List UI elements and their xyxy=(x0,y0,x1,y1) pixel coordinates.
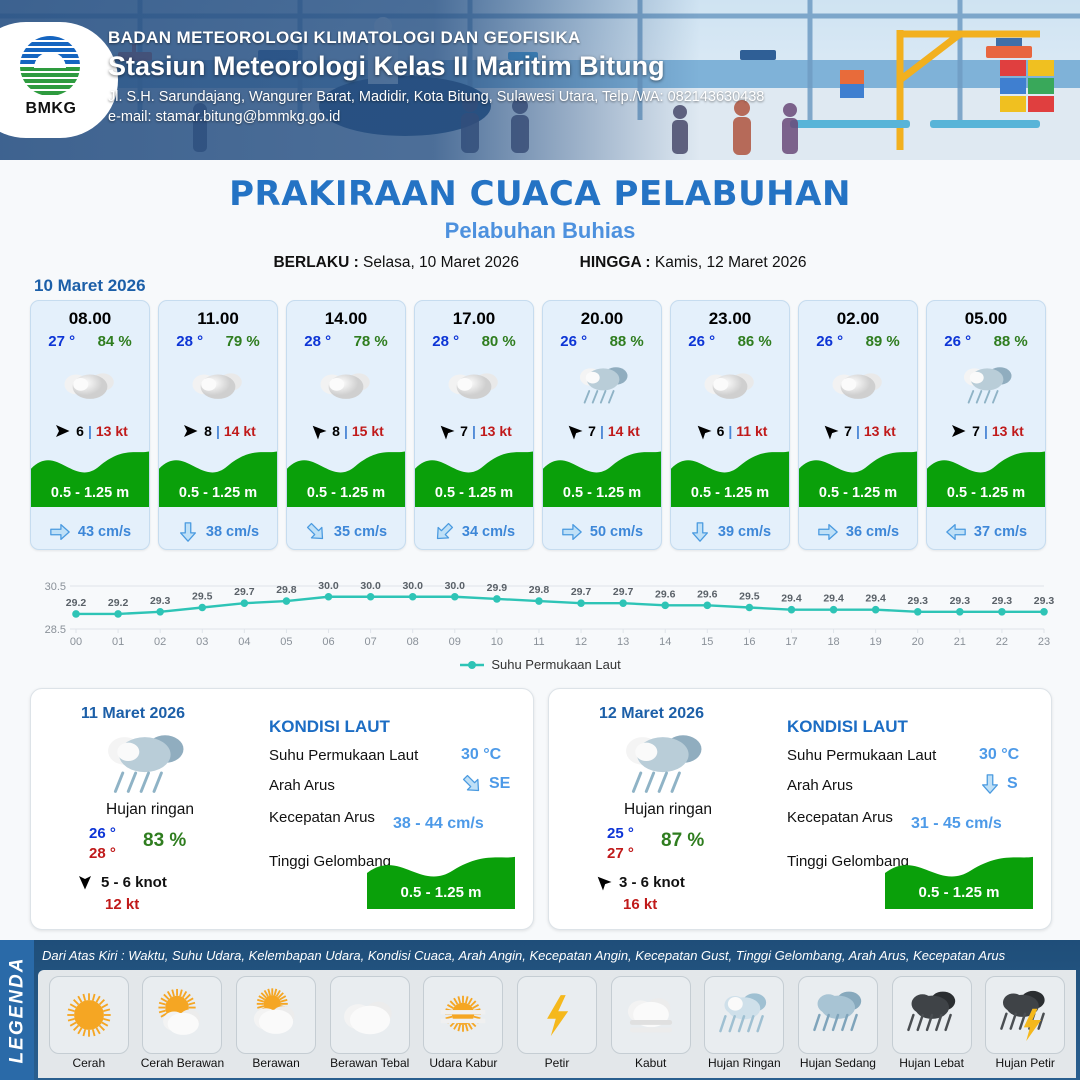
current-speed: 50 cm/s xyxy=(590,524,643,540)
legenda-section: LEGENDA Dari Atas Kiri : Waktu, Suhu Uda… xyxy=(0,940,1080,1080)
sst-value: 30 °C xyxy=(461,746,501,764)
legenda-item: Hujan Lebat xyxy=(885,976,979,1078)
forecast-temperature: 28 ° xyxy=(176,333,203,350)
udara-kabur-icon xyxy=(432,984,494,1046)
current-direction-arrow-S-icon xyxy=(177,521,199,543)
panel-humidity: 83 % xyxy=(143,830,186,852)
berawan-icon xyxy=(445,367,503,403)
wave-height: 0.5 - 1.25 m xyxy=(543,485,661,501)
forecast-humidity: 84 % xyxy=(98,333,132,350)
svg-text:06: 06 xyxy=(322,636,334,648)
current-direction-value-group: SE xyxy=(461,773,510,795)
forecast-humidity: 78 % xyxy=(354,333,388,350)
forecast-temperature: 28 ° xyxy=(304,333,331,350)
current-speed: 37 cm/s xyxy=(974,524,1027,540)
bmkg-logo-text: BMKG xyxy=(6,100,96,118)
forecast-humidity: 88 % xyxy=(994,333,1028,350)
page-subtitle: Pelabuhan Buhias xyxy=(0,218,1080,244)
current-dir-value: S xyxy=(1007,775,1018,793)
berawan-tebal-icon xyxy=(339,984,401,1046)
wind-gust: 11 kt xyxy=(736,423,767,439)
legenda-item-label: Berawan xyxy=(252,1056,299,1070)
panel-weather-icon xyxy=(615,727,711,799)
svg-text:29.9: 29.9 xyxy=(487,582,508,594)
svg-text:29.4: 29.4 xyxy=(823,593,844,605)
current-speed: 43 cm/s xyxy=(78,524,131,540)
panel-wind-range: 5 - 6 knot xyxy=(101,874,167,891)
sst-label: Suhu Permukaan Laut xyxy=(787,747,936,764)
wind-speed: 8 xyxy=(204,423,212,439)
forecast-time: 05.00 xyxy=(927,301,1045,329)
legenda-note: Dari Atas Kiri : Waktu, Suhu Udara, Kele… xyxy=(42,948,1072,963)
wave-height: 0.5 - 1.25 m xyxy=(799,485,917,501)
forecast-weather-icon xyxy=(543,354,661,416)
legenda-icon-cell xyxy=(892,976,972,1054)
hujan-ringan-icon xyxy=(615,727,707,799)
wind-separator: | xyxy=(472,423,476,439)
svg-text:29.7: 29.7 xyxy=(571,586,592,598)
forecast-current: 39 cm/s xyxy=(671,521,789,543)
page-header: BMKG BADAN METEOROLOGI KLIMATOLOGI DAN G… xyxy=(0,0,1080,160)
wind-direction-arrow-NW-icon xyxy=(308,422,328,440)
forecast-humidity: 80 % xyxy=(482,333,516,350)
current-direction-value-group: S xyxy=(979,773,1018,795)
forecast-time: 17.00 xyxy=(415,301,533,329)
svg-text:07: 07 xyxy=(364,636,376,648)
legenda-item-label: Hujan Petir xyxy=(996,1056,1055,1070)
wind-direction-arrow-NW-icon xyxy=(564,422,584,440)
station-email: e-mail: stamar.bitung@bmmkg.go.id xyxy=(108,109,764,125)
panel-weather-icon xyxy=(97,727,193,799)
svg-text:02: 02 xyxy=(154,636,166,648)
hujan-ringan-icon xyxy=(957,362,1015,407)
svg-text:00: 00 xyxy=(70,636,82,648)
legenda-icon-cell xyxy=(49,976,129,1054)
svg-text:18: 18 xyxy=(827,636,839,648)
station-name: Stasiun Meteorologi Kelas II Maritim Bit… xyxy=(108,51,764,82)
svg-text:29.3: 29.3 xyxy=(950,595,971,607)
legenda-item-label: Kabut xyxy=(635,1056,666,1070)
valid-to-value: Kamis, 12 Maret 2026 xyxy=(655,254,807,271)
legenda-icon-cell xyxy=(704,976,784,1054)
legenda-item: Hujan Petir xyxy=(978,976,1072,1078)
forecast-card[interactable]: 20.00 26 ° 88 % 7 | 14 kt 0.5 - 1. xyxy=(542,300,662,550)
legenda-item: Kabut xyxy=(604,976,698,1078)
svg-text:23: 23 xyxy=(1038,636,1050,648)
legenda-icon-cell xyxy=(423,976,503,1054)
svg-text:30.0: 30.0 xyxy=(402,580,423,592)
current-dir-label: Arah Arus xyxy=(787,777,853,794)
svg-text:19: 19 xyxy=(870,636,882,648)
forecast-time: 14.00 xyxy=(287,301,405,329)
forecast-current: 34 cm/s xyxy=(415,521,533,543)
legenda-item-label: Cerah xyxy=(72,1056,105,1070)
panel-humidity: 87 % xyxy=(661,830,704,852)
svg-text:29.7: 29.7 xyxy=(234,586,255,598)
legenda-item: Berawan Tebal xyxy=(323,976,417,1078)
wind-speed: 8 xyxy=(332,423,340,439)
forecast-wind: 6 | 11 kt xyxy=(671,422,789,440)
day-summary-panels: 11 Maret 2026 Hujan ringan 26 ° 28 ° 83 … xyxy=(30,688,1052,930)
chart-legend-marker-icon xyxy=(459,660,485,670)
forecast-current: 36 cm/s xyxy=(799,521,917,543)
forecast-time: 02.00 xyxy=(799,301,917,329)
current-speed: 39 cm/s xyxy=(718,524,771,540)
sst-label: Suhu Permukaan Laut xyxy=(269,747,418,764)
legenda-icon-cell xyxy=(330,976,410,1054)
panel-wave-value: 0.5 - 1.25 m xyxy=(885,884,1033,901)
hujan-sedang-icon xyxy=(807,984,869,1046)
berawan-icon xyxy=(61,367,119,403)
hujan-ringan-icon xyxy=(713,984,775,1046)
hujan-ringan-icon xyxy=(97,727,189,799)
forecast-day-label: 10 Maret 2026 xyxy=(34,276,146,296)
wind-gust: 13 kt xyxy=(96,423,128,439)
svg-text:22: 22 xyxy=(996,636,1008,648)
forecast-current: 38 cm/s xyxy=(159,521,277,543)
svg-text:29.2: 29.2 xyxy=(66,597,87,609)
current-direction-arrow-S-icon xyxy=(979,773,1001,795)
legenda-icon-cell xyxy=(236,976,316,1054)
forecast-current: 43 cm/s xyxy=(31,521,149,543)
current-speed-value: 38 - 44 cm/s xyxy=(393,815,484,833)
kabut-icon xyxy=(620,984,682,1046)
legenda-item: Cerah Berawan xyxy=(136,976,230,1078)
current-direction-arrow-SE-icon xyxy=(461,773,483,795)
current-speed-label: Kecepatan Arus xyxy=(787,809,893,826)
panel-wind: 5 - 6 knot xyxy=(75,873,167,891)
wind-speed: 7 xyxy=(972,423,980,439)
forecast-weather-icon xyxy=(415,354,533,416)
legenda-item-label: Berawan Tebal xyxy=(330,1056,409,1070)
forecast-current: 50 cm/s xyxy=(543,521,661,543)
hujan-petir-icon xyxy=(994,984,1056,1046)
sst-chart-plot: 30.528.500010203040506070809101112131415… xyxy=(24,560,1056,655)
svg-text:29.5: 29.5 xyxy=(192,591,213,603)
legenda-item: Udara Kabur xyxy=(417,976,511,1078)
svg-text:09: 09 xyxy=(449,636,461,648)
wind-gust: 14 kt xyxy=(224,423,256,439)
panel-gust: 16 kt xyxy=(623,896,657,913)
day-summary-panel[interactable]: 12 Maret 2026 Hujan ringan 25 ° 27 ° 87 … xyxy=(548,688,1052,930)
forecast-temperature: 26 ° xyxy=(560,333,587,350)
svg-text:05: 05 xyxy=(280,636,292,648)
wind-direction-arrow-NW-icon xyxy=(593,873,613,891)
current-direction-arrow-W-icon xyxy=(945,521,967,543)
title-block: PRAKIRAAN CUACA PELABUHAN Pelabuhan Buhi… xyxy=(0,160,1080,272)
legenda-item-label: Udara Kabur xyxy=(429,1056,497,1070)
forecast-card[interactable]: 14.00 28 ° 78 % 8 | 15 kt 0.5 - 1.25 m xyxy=(286,300,406,550)
forecast-wind: 7 | 13 kt xyxy=(927,422,1045,440)
svg-text:08: 08 xyxy=(407,636,419,648)
header-text-block: BADAN METEOROLOGI KLIMATOLOGI DAN GEOFIS… xyxy=(108,28,764,125)
svg-text:29.3: 29.3 xyxy=(992,595,1013,607)
valid-to-label: HINGGA : xyxy=(580,254,651,271)
forecast-weather-icon xyxy=(31,354,149,416)
svg-text:14: 14 xyxy=(659,636,671,648)
hujan-lebat-icon xyxy=(901,984,963,1046)
forecast-weather-icon xyxy=(799,354,917,416)
forecast-wind: 8 | 15 kt xyxy=(287,422,405,440)
svg-text:29.7: 29.7 xyxy=(613,586,634,598)
svg-text:29.6: 29.6 xyxy=(655,588,676,600)
cerah-berawan-icon xyxy=(151,984,213,1046)
forecast-humidity: 88 % xyxy=(610,333,644,350)
legenda-item: Petir xyxy=(510,976,604,1078)
current-speed: 34 cm/s xyxy=(462,524,515,540)
wave-height: 0.5 - 1.25 m xyxy=(927,485,1045,501)
current-direction-arrow-E-icon xyxy=(561,521,583,543)
legenda-icon-cell xyxy=(798,976,878,1054)
station-address: Jl. S.H. Sarundajang, Wangurer Barat, Ma… xyxy=(108,89,764,105)
chart-legend: Suhu Permukaan Laut xyxy=(24,657,1056,672)
legenda-item: Cerah xyxy=(42,976,136,1078)
legenda-item-label: Hujan Lebat xyxy=(899,1056,964,1070)
forecast-weather-icon xyxy=(671,354,789,416)
legenda-item: Hujan Ringan xyxy=(697,976,791,1078)
berawan-icon xyxy=(245,984,307,1046)
wind-direction-arrow-E-icon xyxy=(180,422,200,440)
validity-row: BERLAKU : Selasa, 10 Maret 2026 HINGGA :… xyxy=(0,254,1080,272)
forecast-current: 35 cm/s xyxy=(287,521,405,543)
bmkg-logo: BMKG xyxy=(0,22,118,138)
day-summary-panel[interactable]: 11 Maret 2026 Hujan ringan 26 ° 28 ° 83 … xyxy=(30,688,534,930)
wave-height: 0.5 - 1.25 m xyxy=(415,485,533,501)
forecast-wind: 8 | 14 kt xyxy=(159,422,277,440)
panel-condition: Hujan ringan xyxy=(573,801,763,819)
legenda-item-label: Hujan Ringan xyxy=(708,1056,781,1070)
forecast-weather-icon xyxy=(927,354,1045,416)
svg-text:20: 20 xyxy=(912,636,924,648)
sea-conditions-title: KONDISI LAUT xyxy=(269,717,390,737)
svg-text:10: 10 xyxy=(491,636,503,648)
forecast-wind: 7 | 13 kt xyxy=(799,422,917,440)
panel-date: 11 Maret 2026 xyxy=(81,705,185,723)
legenda-item: Berawan xyxy=(229,976,323,1078)
svg-text:29.5: 29.5 xyxy=(739,591,760,603)
forecast-time: 20.00 xyxy=(543,301,661,329)
current-direction-arrow-SW-icon xyxy=(433,521,455,543)
svg-text:12: 12 xyxy=(575,636,587,648)
forecast-humidity: 79 % xyxy=(226,333,260,350)
current-speed: 36 cm/s xyxy=(846,524,899,540)
berawan-icon xyxy=(829,367,887,403)
panel-wind: 3 - 6 knot xyxy=(593,873,685,891)
svg-text:30.0: 30.0 xyxy=(360,580,381,592)
berawan-icon xyxy=(189,367,247,403)
berawan-icon xyxy=(317,367,375,403)
wind-separator: | xyxy=(984,423,988,439)
svg-text:01: 01 xyxy=(112,636,124,648)
wind-separator: | xyxy=(344,423,348,439)
svg-text:15: 15 xyxy=(701,636,713,648)
legenda-icon-cell xyxy=(517,976,597,1054)
svg-text:04: 04 xyxy=(238,636,250,648)
wind-gust: 13 kt xyxy=(864,423,896,439)
panel-date: 12 Maret 2026 xyxy=(599,705,704,723)
legenda-item-label: Cerah Berawan xyxy=(141,1056,224,1070)
legenda-item-label: Hujan Sedang xyxy=(800,1056,876,1070)
panel-wind-range: 3 - 6 knot xyxy=(619,874,685,891)
sst-value: 30 °C xyxy=(979,746,1019,764)
bmkg-emblem-icon xyxy=(20,36,80,96)
wave-height: 0.5 - 1.25 m xyxy=(287,485,405,501)
forecast-temperature: 26 ° xyxy=(944,333,971,350)
svg-text:29.3: 29.3 xyxy=(908,595,929,607)
valid-from-label: BERLAKU : xyxy=(273,254,358,271)
wind-separator: | xyxy=(88,423,92,439)
forecast-wind: 6 | 13 kt xyxy=(31,422,149,440)
svg-text:17: 17 xyxy=(785,636,797,648)
forecast-card[interactable]: 17.00 28 ° 80 % 7 | 13 kt 0.5 - 1.25 m xyxy=(414,300,534,550)
svg-text:29.4: 29.4 xyxy=(781,593,802,605)
wind-speed: 6 xyxy=(717,423,725,439)
svg-text:21: 21 xyxy=(954,636,966,648)
wind-direction-arrow-S-icon xyxy=(75,873,95,891)
wind-separator: | xyxy=(728,423,732,439)
forecast-wind: 7 | 13 kt xyxy=(415,422,533,440)
legenda-icon-cell xyxy=(611,976,691,1054)
svg-text:29.3: 29.3 xyxy=(1034,595,1055,607)
legenda-icon-cell xyxy=(142,976,222,1054)
wind-direction-arrow-E-icon xyxy=(948,422,968,440)
wave-height: 0.5 - 1.25 m xyxy=(159,485,277,501)
wind-direction-arrow-NW-icon xyxy=(436,422,456,440)
forecast-temperature: 26 ° xyxy=(688,333,715,350)
panel-temp-max: 27 ° xyxy=(607,845,634,862)
svg-text:30.0: 30.0 xyxy=(318,580,339,592)
wind-speed: 6 xyxy=(76,423,84,439)
forecast-time: 08.00 xyxy=(31,301,149,329)
forecast-time: 23.00 xyxy=(671,301,789,329)
current-speed-value: 31 - 45 cm/s xyxy=(911,815,1002,833)
wind-separator: | xyxy=(600,423,604,439)
panel-temp-min: 26 ° xyxy=(89,825,116,842)
svg-text:28.5: 28.5 xyxy=(45,624,66,636)
panel-temp-min: 25 ° xyxy=(607,825,634,842)
wind-gust: 14 kt xyxy=(608,423,640,439)
forecast-weather-icon xyxy=(159,354,277,416)
forecast-card[interactable]: 23.00 26 ° 86 % 6 | 11 kt 0.5 - 1.25 m xyxy=(670,300,790,550)
current-direction-arrow-E-icon xyxy=(817,521,839,543)
current-speed: 35 cm/s xyxy=(334,524,387,540)
legenda-icon-strip: Cerah Cerah Berawan Berawan Berawan Teba… xyxy=(38,970,1076,1078)
svg-text:16: 16 xyxy=(743,636,755,648)
petir-icon xyxy=(526,984,588,1046)
svg-text:03: 03 xyxy=(196,636,208,648)
forecast-wind: 7 | 14 kt xyxy=(543,422,661,440)
wind-speed: 7 xyxy=(588,423,596,439)
wind-speed: 7 xyxy=(460,423,468,439)
berawan-icon xyxy=(701,367,759,403)
forecast-humidity: 86 % xyxy=(738,333,772,350)
valid-from-value: Selasa, 10 Maret 2026 xyxy=(363,254,519,271)
sst-chart: 30.528.500010203040506070809101112131415… xyxy=(24,560,1056,680)
svg-text:29.6: 29.6 xyxy=(697,588,718,600)
current-dir-value: SE xyxy=(489,775,510,793)
agency-name: BADAN METEOROLOGI KLIMATOLOGI DAN GEOFIS… xyxy=(108,28,764,48)
forecast-temperature: 26 ° xyxy=(816,333,843,350)
svg-text:13: 13 xyxy=(617,636,629,648)
forecast-current: 37 cm/s xyxy=(927,521,1045,543)
current-direction-arrow-SE-icon xyxy=(305,521,327,543)
svg-text:29.2: 29.2 xyxy=(108,597,129,609)
legenda-item-label: Petir xyxy=(545,1056,570,1070)
panel-gust: 12 kt xyxy=(105,896,139,913)
chart-legend-label: Suhu Permukaan Laut xyxy=(491,657,620,672)
forecast-card[interactable]: 08.00 27 ° 84 % 6 | 13 kt 0.5 - 1.25 m xyxy=(30,300,150,550)
current-direction-arrow-E-icon xyxy=(49,521,71,543)
wind-gust: 13 kt xyxy=(992,423,1024,439)
legenda-item: Hujan Sedang xyxy=(791,976,885,1078)
svg-text:11: 11 xyxy=(533,636,544,648)
wind-direction-arrow-NW-icon xyxy=(820,422,840,440)
svg-text:29.4: 29.4 xyxy=(865,593,886,605)
wind-separator: | xyxy=(856,423,860,439)
forecast-time: 11.00 xyxy=(159,301,277,329)
svg-text:30.5: 30.5 xyxy=(45,581,66,593)
page-title: PRAKIRAAN CUACA PELABUHAN xyxy=(0,174,1080,214)
legenda-icon-cell xyxy=(985,976,1065,1054)
forecast-humidity: 89 % xyxy=(866,333,900,350)
panel-wave-value: 0.5 - 1.25 m xyxy=(367,884,515,901)
forecast-weather-icon xyxy=(287,354,405,416)
hujan-ringan-icon xyxy=(573,362,631,407)
wave-height: 0.5 - 1.25 m xyxy=(31,485,149,501)
current-dir-label: Arah Arus xyxy=(269,777,335,794)
forecast-card[interactable]: 02.00 26 ° 89 % 7 | 13 kt 0.5 - 1.25 m xyxy=(798,300,918,550)
svg-text:29.8: 29.8 xyxy=(529,584,550,596)
wind-gust: 15 kt xyxy=(352,423,384,439)
wave-height: 0.5 - 1.25 m xyxy=(671,485,789,501)
current-speed: 38 cm/s xyxy=(206,524,259,540)
forecast-card-row: 08.00 27 ° 84 % 6 | 13 kt 0.5 - 1.25 m xyxy=(30,300,1052,550)
forecast-temperature: 28 ° xyxy=(432,333,459,350)
wind-gust: 13 kt xyxy=(480,423,512,439)
forecast-card[interactable]: 05.00 26 ° 88 % 7 | 13 kt 0.5 - 1. xyxy=(926,300,1046,550)
sea-conditions-title: KONDISI LAUT xyxy=(787,717,908,737)
wind-direction-arrow-E-icon xyxy=(52,422,72,440)
panel-temp-max: 28 ° xyxy=(89,845,116,862)
wind-direction-arrow-NW-icon xyxy=(693,422,713,440)
svg-text:29.3: 29.3 xyxy=(150,595,171,607)
wind-speed: 7 xyxy=(844,423,852,439)
cerah-icon xyxy=(58,984,120,1046)
legenda-side-label: LEGENDA xyxy=(0,940,34,1080)
svg-text:29.8: 29.8 xyxy=(276,584,297,596)
panel-condition: Hujan ringan xyxy=(55,801,245,819)
svg-text:30.0: 30.0 xyxy=(445,580,466,592)
forecast-card[interactable]: 11.00 28 ° 79 % 8 | 14 kt 0.5 - 1.25 m xyxy=(158,300,278,550)
current-speed-label: Kecepatan Arus xyxy=(269,809,375,826)
forecast-temperature: 27 ° xyxy=(48,333,75,350)
current-direction-arrow-S-icon xyxy=(689,521,711,543)
wind-separator: | xyxy=(216,423,220,439)
